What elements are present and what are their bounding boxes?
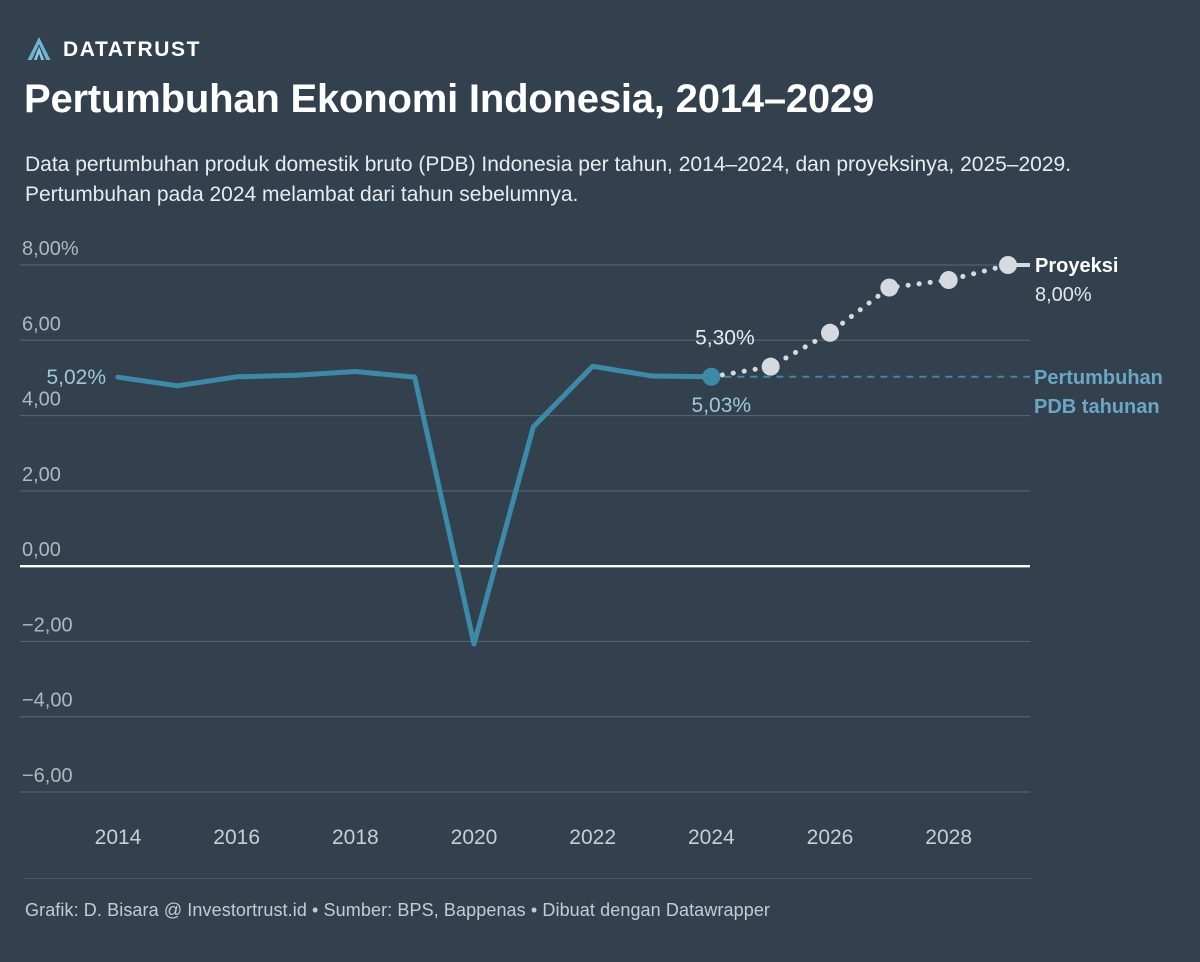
legend-projection-value: 8,00% <box>1035 284 1092 306</box>
data-point-label: 5,30% <box>695 327 755 350</box>
footer-divider <box>24 878 1032 879</box>
y-axis-tick-label: −2,00 <box>22 614 73 636</box>
data-point-label: 5,03% <box>692 394 752 417</box>
x-axis-tick-label: 2028 <box>925 826 972 849</box>
line-chart: 8,00%6,004,002,000,00−2,00−4,00−6,002014… <box>0 232 1200 872</box>
chart-container: 8,00%6,004,002,000,00−2,00−4,00−6,002014… <box>0 232 1200 872</box>
y-axis-tick-label: 0,00 <box>22 539 61 561</box>
page-subtitle: Data pertumbuhan produk domestik bruto (… <box>25 150 1115 210</box>
footer-credit: Grafik: D. Bisara @ Investortrust.id • S… <box>25 900 770 921</box>
y-axis-tick-label: 4,00 <box>22 389 61 411</box>
x-axis-tick-label: 2016 <box>213 826 260 849</box>
projection-data-point <box>880 279 898 297</box>
legend-actual-label-line2: PDB tahunan <box>1034 396 1160 418</box>
legend-projection-label: Proyeksi <box>1035 255 1118 277</box>
legend-actual-label-line1: Pertumbuhan <box>1034 367 1163 389</box>
projection-series-line <box>711 265 1008 377</box>
x-axis-tick-label: 2018 <box>332 826 379 849</box>
page-title: Pertumbuhan Ekonomi Indonesia, 2014–2029 <box>24 78 874 120</box>
y-axis-tick-label: 2,00 <box>22 464 61 486</box>
y-axis-tick-label: −4,00 <box>22 690 73 712</box>
last-actual-data-point <box>702 368 720 386</box>
projection-data-point <box>762 358 780 376</box>
projection-data-point <box>940 271 958 289</box>
y-axis-tick-label: 6,00 <box>22 313 61 335</box>
actual-series-line <box>118 366 711 644</box>
datatrust-a-logo-icon <box>26 36 52 62</box>
chart-page: DATATRUST Pertumbuhan Ekonomi Indonesia,… <box>0 0 1200 962</box>
x-axis-tick-label: 2026 <box>807 826 854 849</box>
x-axis-tick-label: 2022 <box>569 826 616 849</box>
projection-data-point <box>999 256 1017 274</box>
brand-name: DATATRUST <box>63 39 201 60</box>
y-axis-tick-label: −6,00 <box>22 765 73 787</box>
x-axis-tick-label: 2014 <box>95 826 142 849</box>
x-axis-tick-label: 2024 <box>688 826 735 849</box>
y-axis-tick-label: 8,00% <box>22 238 79 260</box>
brand: DATATRUST <box>26 36 201 62</box>
x-axis-tick-label: 2020 <box>451 826 498 849</box>
projection-data-point <box>821 324 839 342</box>
data-point-label: 5,02% <box>46 366 106 389</box>
